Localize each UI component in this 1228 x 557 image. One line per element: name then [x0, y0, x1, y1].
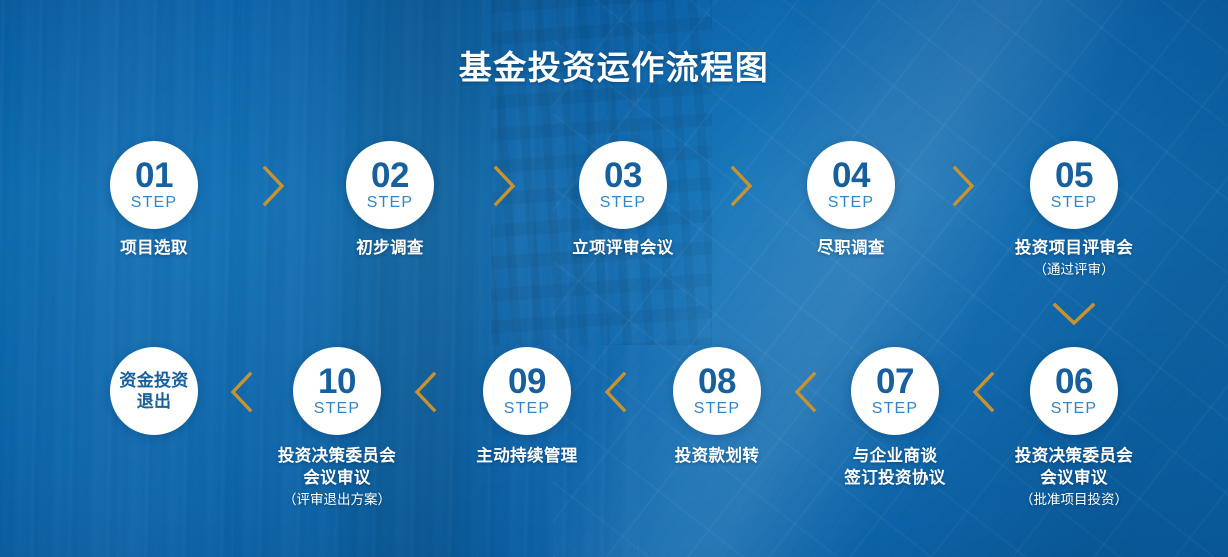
step-caption-05-main: 投资项目评审会 [1015, 239, 1133, 257]
step-caption-06: 投资决策委员会 会议审议 （批准项目投资） [934, 446, 1214, 508]
chevron-down-icon [1052, 300, 1096, 328]
step-circle-02[interactable]: 02 STEP [346, 141, 434, 229]
step-caption-10-sub: （评审退出方案） [197, 491, 477, 509]
terminal-circle-exit[interactable]: 资金投资 退出 [110, 347, 198, 435]
step-number-06: 06 [1055, 365, 1093, 399]
chevron-left-icon-3 [602, 371, 628, 413]
chevron-left-icon-5 [970, 371, 996, 413]
step-caption-10-line2: 会议审议 [303, 469, 371, 487]
step-word-08: STEP [694, 400, 741, 418]
step-caption-05: 投资项目评审会 （通过评审） [934, 238, 1214, 279]
step-caption-05-sub: （通过评审） [934, 261, 1214, 279]
step-number-05: 05 [1055, 159, 1093, 193]
step-word-03: STEP [600, 194, 647, 212]
step-circle-09[interactable]: 09 STEP [483, 347, 571, 435]
chevron-left-icon-2 [412, 371, 438, 413]
chevron-left-icon-4 [792, 371, 818, 413]
step-number-03: 03 [604, 159, 642, 193]
chevron-right-icon-2 [492, 165, 518, 207]
step-circle-01[interactable]: 01 STEP [110, 141, 198, 229]
step-word-07: STEP [872, 400, 919, 418]
chevron-right-icon-3 [729, 165, 755, 207]
step-circle-08[interactable]: 08 STEP [673, 347, 761, 435]
step-circle-03[interactable]: 03 STEP [579, 141, 667, 229]
step-word-04: STEP [828, 194, 875, 212]
step-word-01: STEP [131, 194, 178, 212]
chevron-right-icon-1 [261, 165, 287, 207]
terminal-label-line1: 资金投资 [119, 371, 188, 390]
chevron-right-icon-4 [951, 165, 977, 207]
step-caption-10-line1: 投资决策委员会 [278, 447, 396, 465]
step-caption-06-line2: 会议审议 [1040, 469, 1108, 487]
step-circle-06[interactable]: 06 STEP [1030, 347, 1118, 435]
step-word-09: STEP [504, 400, 551, 418]
step-circle-07[interactable]: 07 STEP [851, 347, 939, 435]
step-number-02: 02 [371, 159, 409, 193]
chevron-left-icon-1 [228, 371, 254, 413]
step-caption-06-line1: 投资决策委员会 [1015, 447, 1133, 465]
step-number-07: 07 [876, 365, 914, 399]
step-number-10: 10 [318, 365, 356, 399]
step-number-09: 09 [508, 365, 546, 399]
step-number-08: 08 [698, 365, 736, 399]
step-word-06: STEP [1051, 400, 1098, 418]
terminal-label-line2: 退出 [137, 392, 172, 411]
page-title: 基金投资运作流程图 [0, 41, 1228, 89]
step-caption-07-line2: 签订投资协议 [844, 469, 945, 487]
step-word-05: STEP [1051, 194, 1098, 212]
step-circle-04[interactable]: 04 STEP [807, 141, 895, 229]
step-caption-07-line1: 与企业商谈 [853, 447, 938, 465]
terminal-label-exit: 资金投资 退出 [119, 370, 188, 413]
step-number-04: 04 [832, 159, 870, 193]
step-circle-10[interactable]: 10 STEP [293, 347, 381, 435]
step-circle-05[interactable]: 05 STEP [1030, 141, 1118, 229]
step-word-10: STEP [314, 400, 361, 418]
step-word-02: STEP [367, 194, 414, 212]
step-number-01: 01 [135, 159, 173, 193]
step-caption-06-sub: （批准项目投资） [934, 491, 1214, 509]
